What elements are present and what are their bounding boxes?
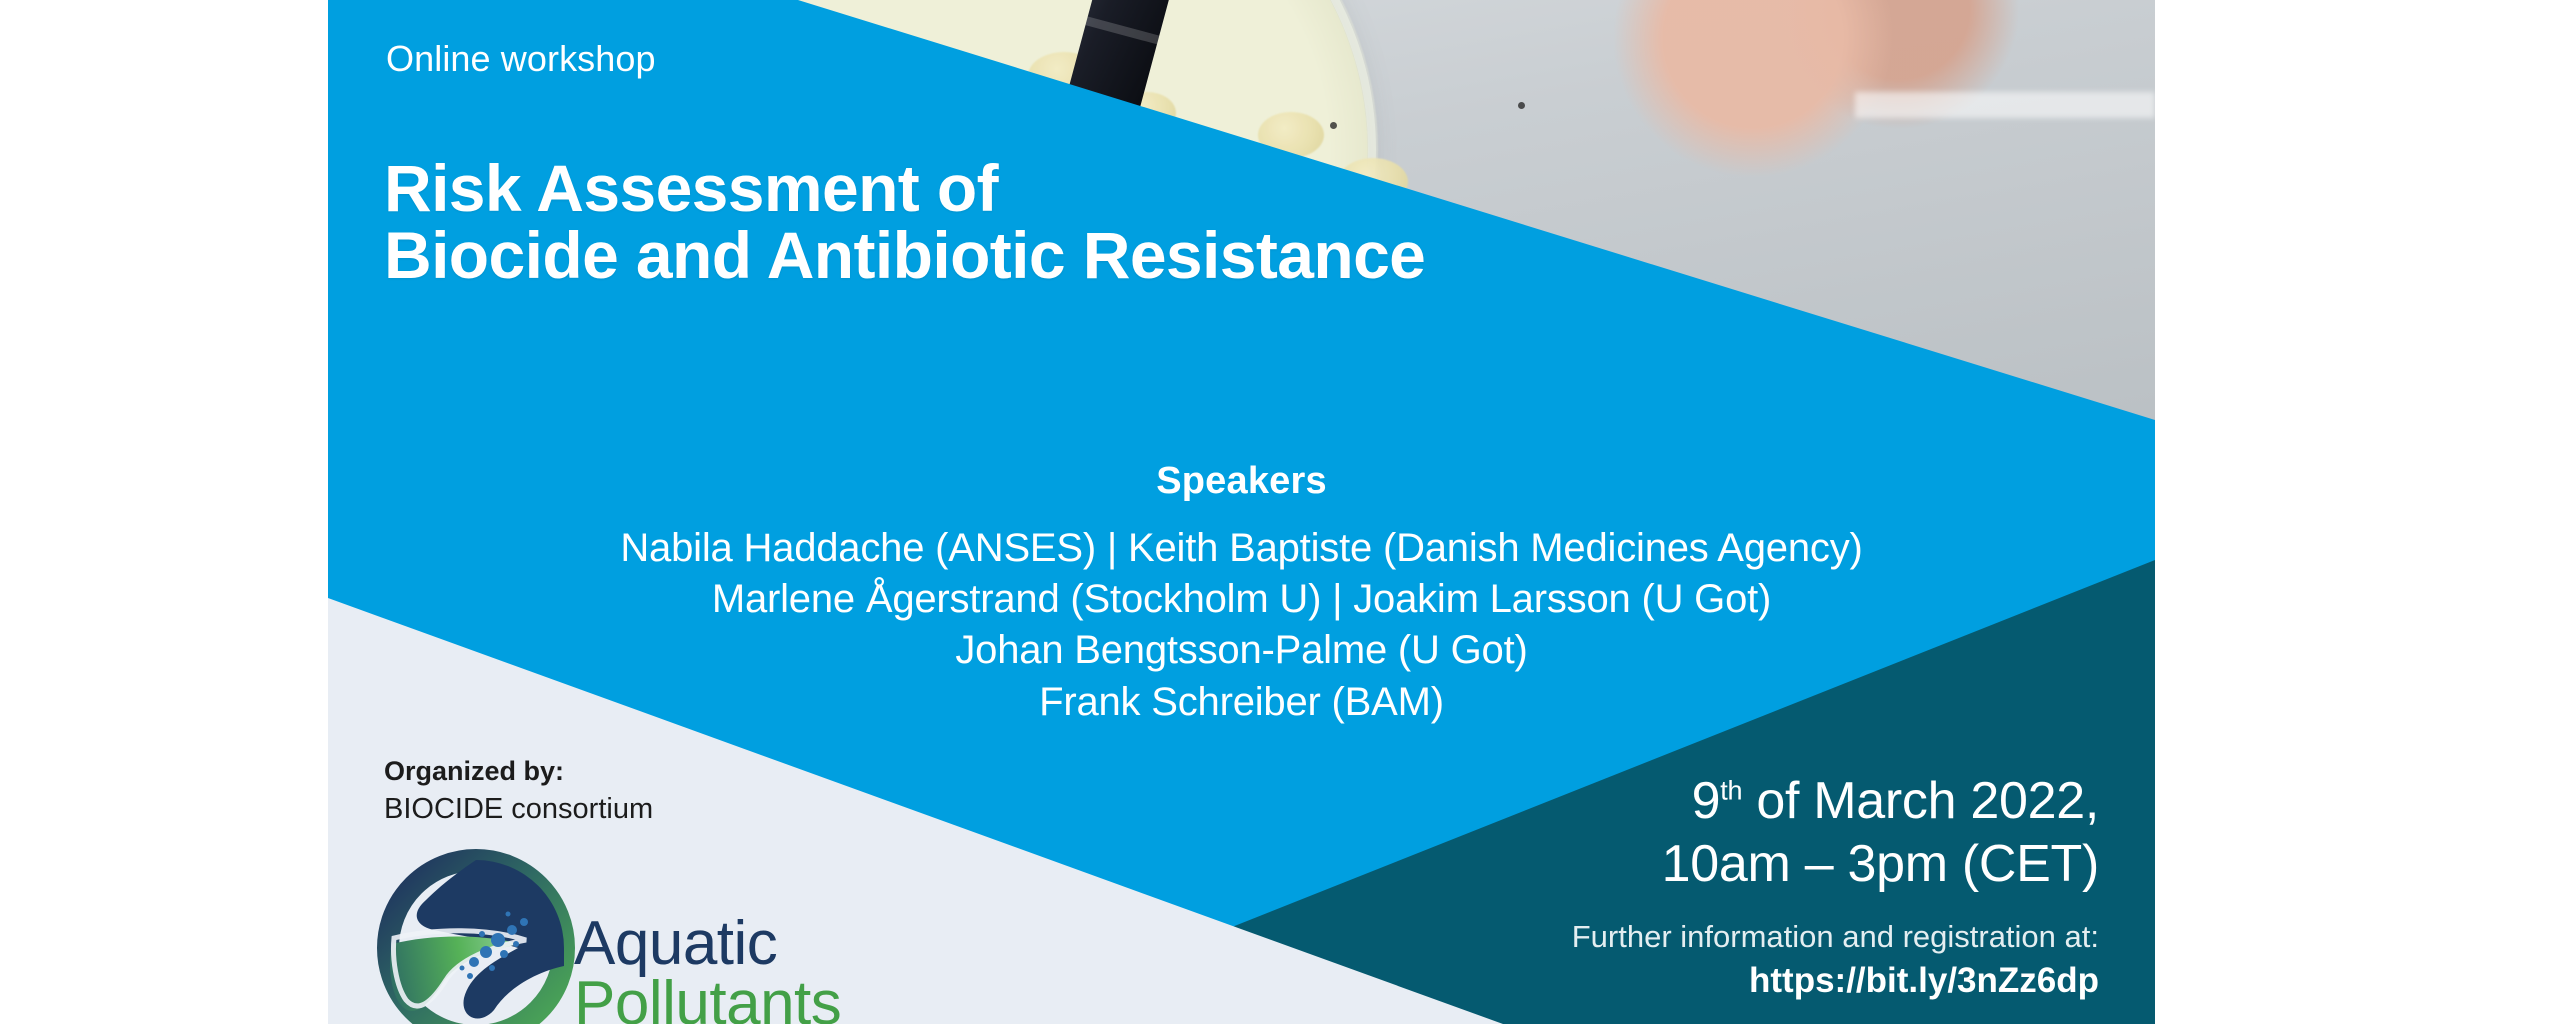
logo-word-aquatic: Aquatic (574, 914, 841, 974)
event-details: 9th of March 2022, 10am – 3pm (CET) Furt… (1572, 770, 2099, 1001)
speaker-line: Marlene Ågerstrand (Stockholm U) | Joaki… (328, 574, 2155, 625)
speaker-line: Frank Schreiber (BAM) (328, 677, 2155, 728)
page-canvas: Online workshop Risk Assessment of Bioci… (0, 0, 2560, 1024)
page-title-line-2: Biocide and Antibiotic Resistance (384, 222, 1425, 289)
registration-label: Further information and registration at: (1572, 919, 2099, 955)
speakers-heading: Speakers (328, 460, 2155, 503)
event-date-rest: of March 2022, (1742, 772, 2099, 830)
marker-pen-band (1085, 16, 1159, 44)
event-date-ordinal: th (1720, 776, 1742, 806)
aquatic-pollutants-logo-icon (376, 848, 576, 1024)
event-time: 10am – 3pm (CET) (1572, 833, 2099, 896)
registration-link[interactable]: https://bit.ly/3nZz6dp (1572, 961, 2099, 1001)
plate-speck (1330, 122, 1337, 129)
logo-word-pollutants: Pollutants (574, 974, 841, 1024)
logo-wordmark: Aquatic Pollutants (574, 914, 841, 1024)
aquatic-pollutants-logo: Aquatic Pollutants (376, 848, 916, 1024)
organizer-name: BIOCIDE consortium (384, 793, 653, 826)
workshop-poster: Online workshop Risk Assessment of Bioci… (328, 0, 2155, 1024)
page-title-line-1: Risk Assessment of (384, 155, 1425, 222)
kicker-label: Online workshop (386, 38, 656, 80)
event-date-day: 9 (1692, 772, 1721, 830)
event-date: 9th of March 2022, (1572, 770, 2099, 833)
organizer-label: Organized by: (384, 756, 653, 787)
speaker-line: Nabila Haddache (ANSES) | Keith Baptiste… (328, 523, 2155, 574)
organizer-section: Organized by: BIOCIDE consortium (384, 756, 653, 826)
page-title: Risk Assessment of Biocide and Antibioti… (384, 155, 1425, 290)
background-shelf (1855, 92, 2155, 118)
plate-speck (1518, 102, 1525, 109)
speaker-line: Johan Bengtsson-Palme (U Got) (328, 625, 2155, 676)
speakers-section: Speakers Nabila Haddache (ANSES) | Keith… (328, 460, 2155, 728)
